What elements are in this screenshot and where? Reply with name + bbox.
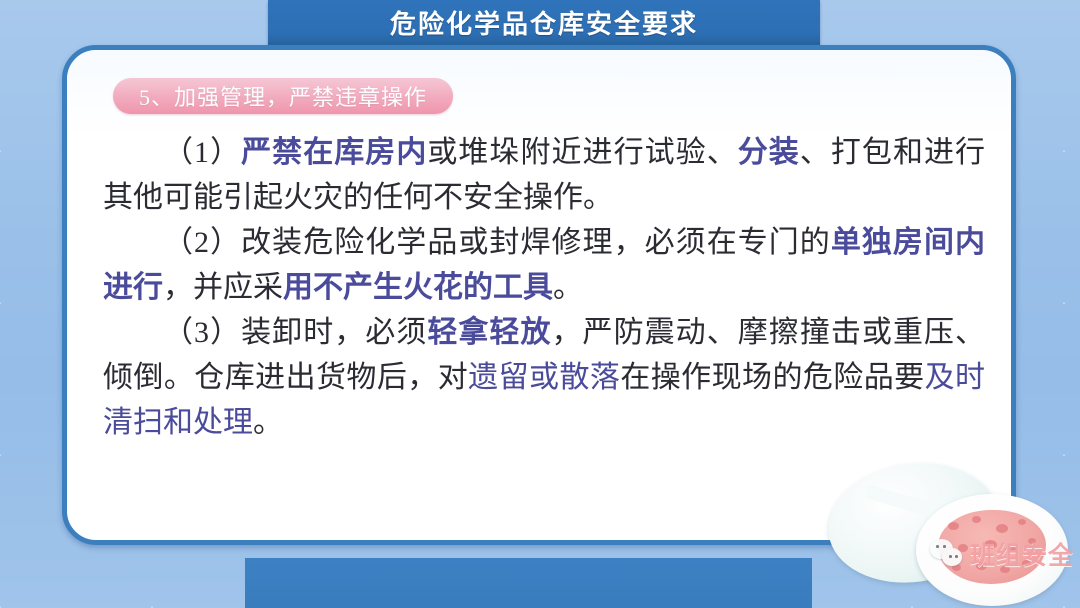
text-run: 严禁在库房内 [241, 136, 427, 169]
text-run: 分装 [738, 136, 800, 169]
text-run: 在操作现场的危险品要 [620, 361, 924, 394]
body-text-block: （1）严禁在库房内或堆垛附近进行试验、分装、打包和进行其他可能引起火灾的任何不安… [103, 130, 985, 445]
text-run: ，并应采 [163, 271, 283, 304]
food-speckle [1008, 546, 1018, 553]
text-run: （1） [163, 136, 241, 169]
text-run: 用不产生火花的工具 [283, 271, 553, 304]
food-speckle [958, 544, 968, 552]
content-card: 5、加强管理，严禁违章操作 （1）严禁在库房内或堆垛附近进行试验、分装、打包和进… [62, 45, 1016, 545]
paragraph-item-2: （2）改装危险化学品或封焊修理，必须在专门的单独房间内进行，并应采用不产生火花的… [103, 220, 985, 310]
slide-title: 危险化学品仓库安全要求 [390, 4, 698, 41]
text-run: 轻拿轻放 [427, 316, 551, 349]
text-run: 。 [253, 406, 283, 439]
text-run: 遗留或散落 [468, 361, 620, 394]
slide-title-banner: 危险化学品仓库安全要求 [268, 0, 820, 45]
food-speckle [1000, 566, 1010, 573]
food-speckle [1018, 519, 1026, 525]
text-run: 。 [553, 271, 583, 304]
text-run: （2）改装危险化学品或封焊修理，必须在专门的 [163, 226, 831, 259]
food-speckle [1022, 560, 1031, 567]
section-heading-pill: 5、加强管理，严禁违章操作 [113, 78, 453, 114]
bottom-accent-band [245, 558, 812, 608]
text-run: （3）装卸时，必须 [163, 316, 427, 349]
paragraph-item-3: （3）装卸时，必须轻拿轻放，严防震动、摩擦撞击或重压、倾倒。仓库进出货物后，对遗… [103, 310, 985, 445]
food-speckle [976, 562, 987, 570]
food-speckle [952, 564, 961, 571]
food-speckle [1028, 538, 1036, 544]
text-run: 或堆垛附近进行试验、 [427, 136, 737, 169]
section-heading-label: 5、加强管理，严禁违章操作 [139, 80, 427, 112]
slide-canvas: 危险化学品仓库安全要求 5、加强管理，严禁违章操作 （1）严禁在库房内或堆垛附近… [0, 0, 1080, 608]
paragraph-item-1: （1）严禁在库房内或堆垛附近进行试验、分装、打包和进行其他可能引起火灾的任何不安… [103, 130, 985, 220]
